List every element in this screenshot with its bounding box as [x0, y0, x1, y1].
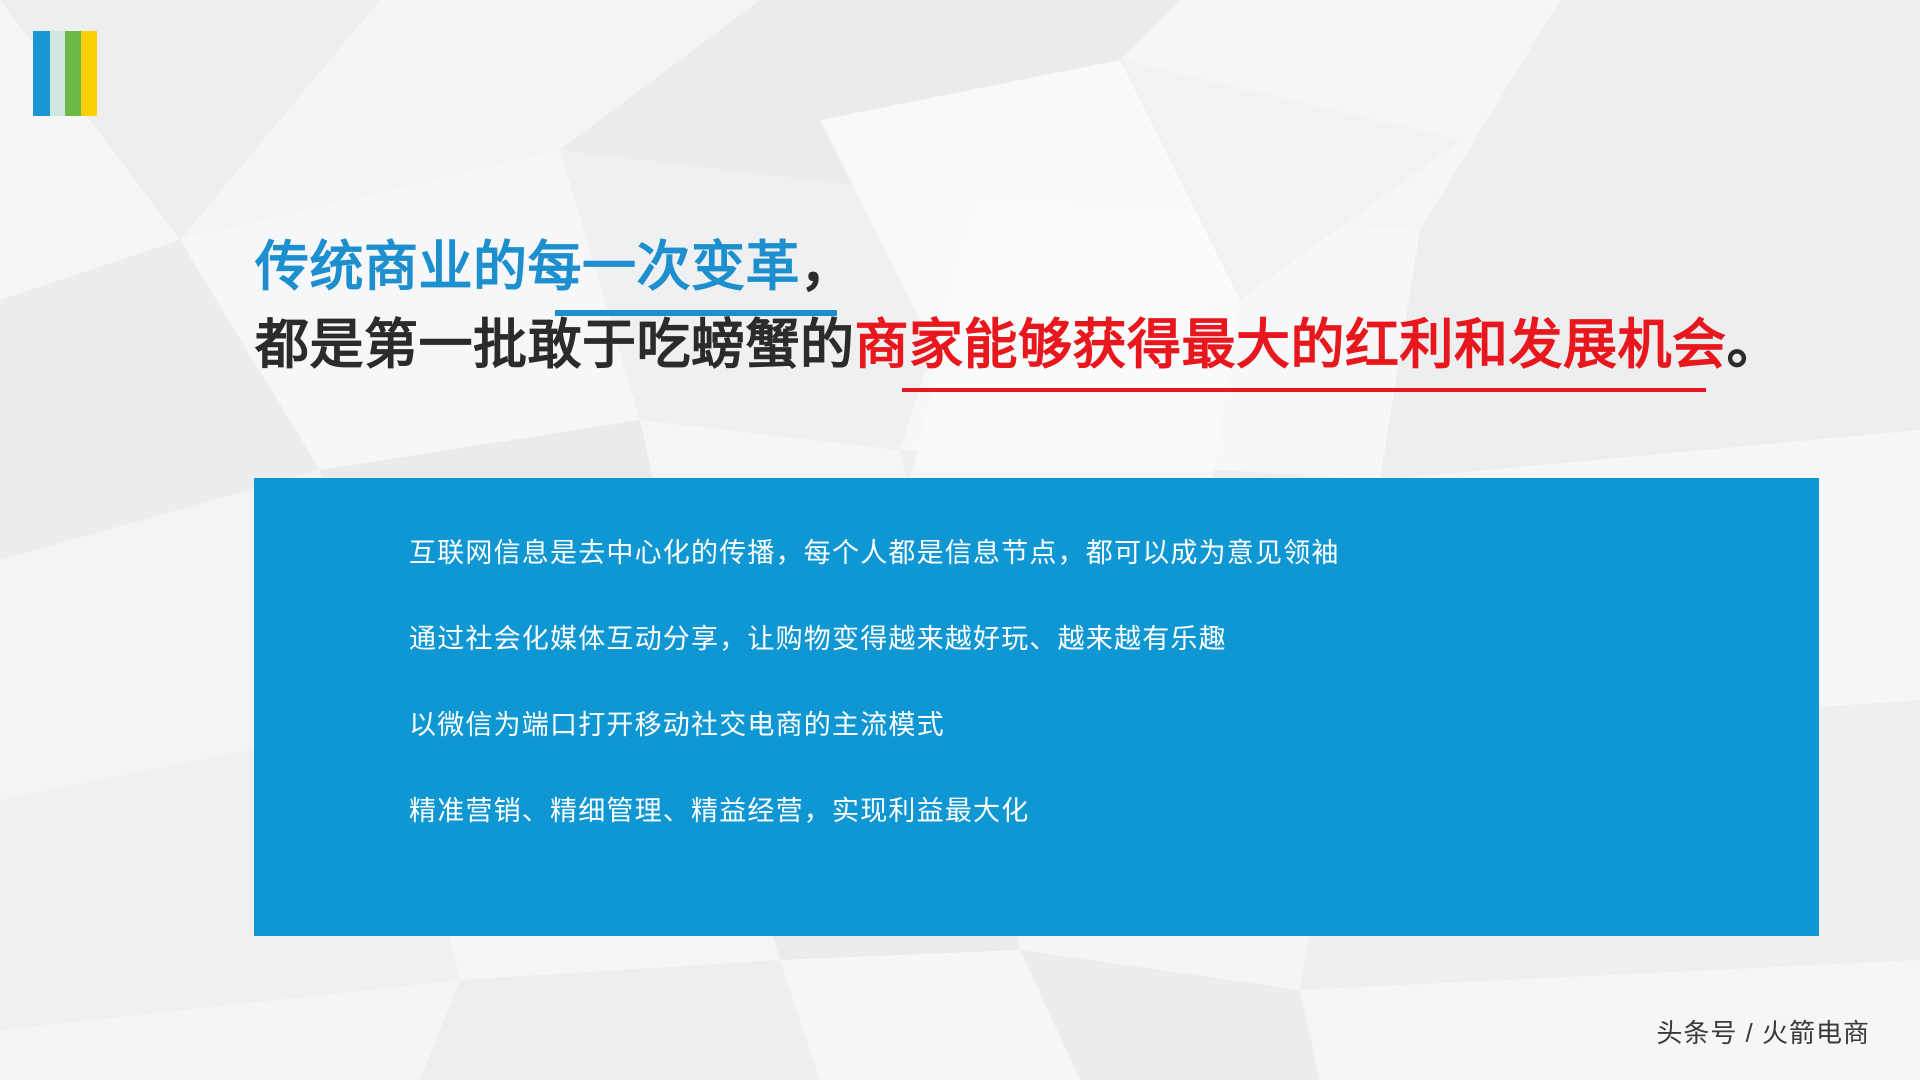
footer-attribution: 头条号 / 火箭电商 — [1656, 1013, 1870, 1050]
content-panel: 互联网信息是去中心化的传播，每个人都是信息节点，都可以成为意见领袖 通过社会化媒… — [254, 478, 1819, 936]
content-line: 互联网信息是去中心化的传播，每个人都是信息节点，都可以成为意见领袖 — [409, 540, 1779, 567]
logo-bar-pale — [50, 31, 65, 116]
headline-highlight-blue: 传统商业的每一次变革 — [255, 237, 800, 297]
headline-line-2: 都是第一批敢于吃螃蟹的商家能够获得最大的红利和发展机会。 — [255, 316, 1815, 374]
content-panel-list: 互联网信息是去中心化的传播，每个人都是信息节点，都可以成为意见领袖 通过社会化媒… — [409, 540, 1779, 825]
brand-logo[interactable] — [33, 31, 97, 116]
content-line: 以微信为端口打开移动社交电商的主流模式 — [409, 712, 1779, 739]
presentation-slide: 传统商业的每一次变革， 都是第一批敢于吃螃蟹的商家能够获得最大的红利和发展机会。… — [0, 0, 1920, 1080]
content-line: 精准营销、精细管理、精益经营，实现利益最大化 — [409, 798, 1779, 825]
headline-highlight-red: 商家能够获得最大的红利和发展机会 — [855, 315, 1727, 375]
headline-plain-text: 都是第一批敢于吃螃蟹的 — [255, 315, 855, 375]
logo-bar-blue — [33, 31, 50, 116]
logo-bar-green — [65, 31, 81, 116]
logo-bar-yellow — [81, 31, 97, 116]
headline-red-underline — [902, 388, 1706, 392]
headline-period: 。 — [1727, 315, 1782, 375]
headline-comma: ， — [800, 237, 855, 297]
content-line: 通过社会化媒体互动分享，让购物变得越来越好玩、越来越有乐趣 — [409, 626, 1779, 653]
slide-headline: 传统商业的每一次变革， 都是第一批敢于吃螃蟹的商家能够获得最大的红利和发展机会。 — [255, 238, 1815, 375]
headline-line-1: 传统商业的每一次变革， — [255, 238, 1815, 296]
